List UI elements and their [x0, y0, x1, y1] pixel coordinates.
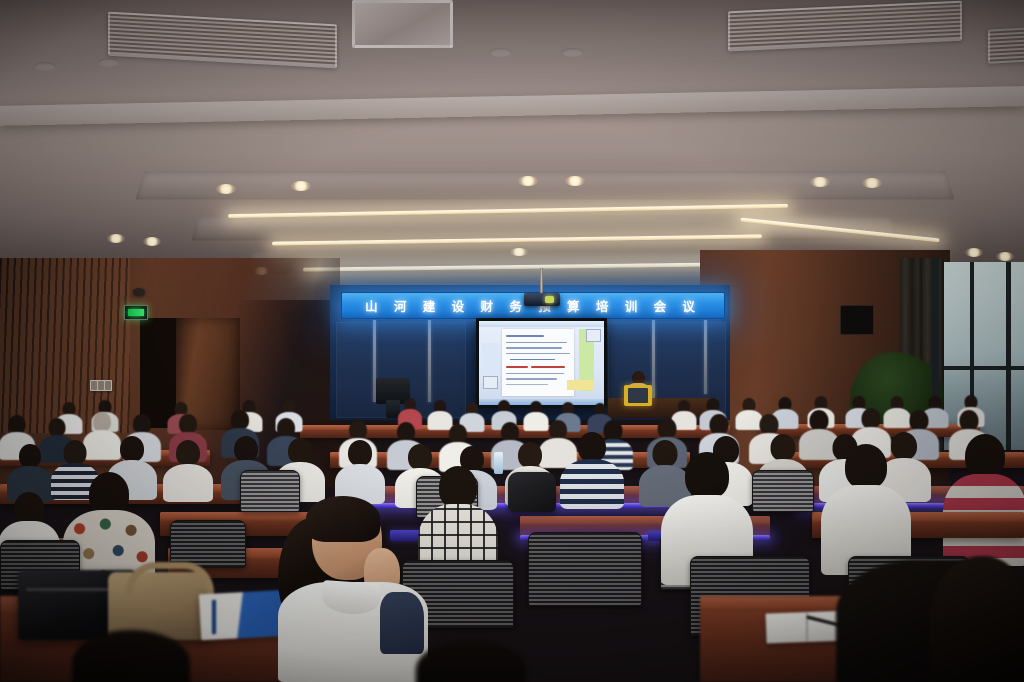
window-mullion: [1006, 262, 1011, 450]
ceiling-mounted-projector: [524, 293, 560, 306]
attendee-in-navy-striped-shirt: [562, 432, 622, 506]
ceiling-sprinkler: [98, 58, 120, 67]
projector-mount-pole: [540, 268, 543, 295]
ceiling-downlight: [862, 178, 882, 188]
slide-thumbnail: [483, 376, 498, 389]
light-switch-plate[interactable]: [90, 380, 112, 391]
ceiling-coffer: [135, 171, 954, 200]
projector-lens-icon: [545, 296, 554, 303]
slide-yellow-panel: [567, 380, 595, 390]
ceiling-downlight: [810, 177, 830, 187]
backpack: [508, 472, 556, 512]
conference-chair[interactable]: [528, 532, 642, 606]
presenter-monitor: [624, 385, 652, 406]
man-in-red-white-striped-polo: [946, 434, 1024, 564]
handbag-strap: [126, 562, 214, 595]
wall-speaker: [840, 305, 874, 335]
slide-titlebar: [479, 321, 604, 327]
conference-room-photo: 山 河 建 设 财 务 预 算 培 训 会 议: [0, 0, 1024, 682]
ceiling-sprinkler: [562, 48, 584, 57]
front-wall-post: [704, 320, 707, 394]
conference-chair[interactable]: [752, 470, 814, 512]
front-wall-post: [428, 320, 431, 402]
attendee: [164, 440, 212, 500]
exit-sign-icon: [124, 305, 148, 320]
ceiling-skylight-panel: [352, 0, 453, 48]
window-mullion: [944, 366, 1024, 370]
ceiling-downlight: [565, 176, 585, 186]
hair-top: [306, 496, 380, 542]
ceiling-downlight: [996, 252, 1014, 261]
ceiling-sprinkler: [490, 48, 512, 57]
book-spiral: [212, 600, 216, 634]
ceiling-downlight: [216, 184, 236, 194]
man-in-white-shirt: [824, 444, 908, 570]
security-camera-icon: [133, 288, 145, 296]
front-wall-post: [652, 320, 655, 398]
ceiling-downlight: [107, 234, 125, 243]
ceiling-downlight: [518, 176, 538, 186]
ceiling-downlight: [510, 248, 528, 256]
foreground-head-silhouette: [930, 556, 1024, 682]
slide-thumbnail: [586, 329, 601, 342]
ceiling-downlight: [143, 237, 161, 246]
ceiling-downlight: [965, 248, 983, 257]
projection-screen: [476, 318, 607, 408]
ceiling-sprinkler: [34, 62, 56, 71]
ceiling-downlight: [291, 181, 311, 191]
slide-document: [502, 329, 575, 396]
ceiling-vent: [988, 26, 1024, 63]
woman-in-white-shirt: [276, 496, 436, 682]
conference-chair[interactable]: [170, 520, 246, 568]
attendee: [336, 440, 384, 502]
shirt-sleeve: [380, 592, 424, 654]
